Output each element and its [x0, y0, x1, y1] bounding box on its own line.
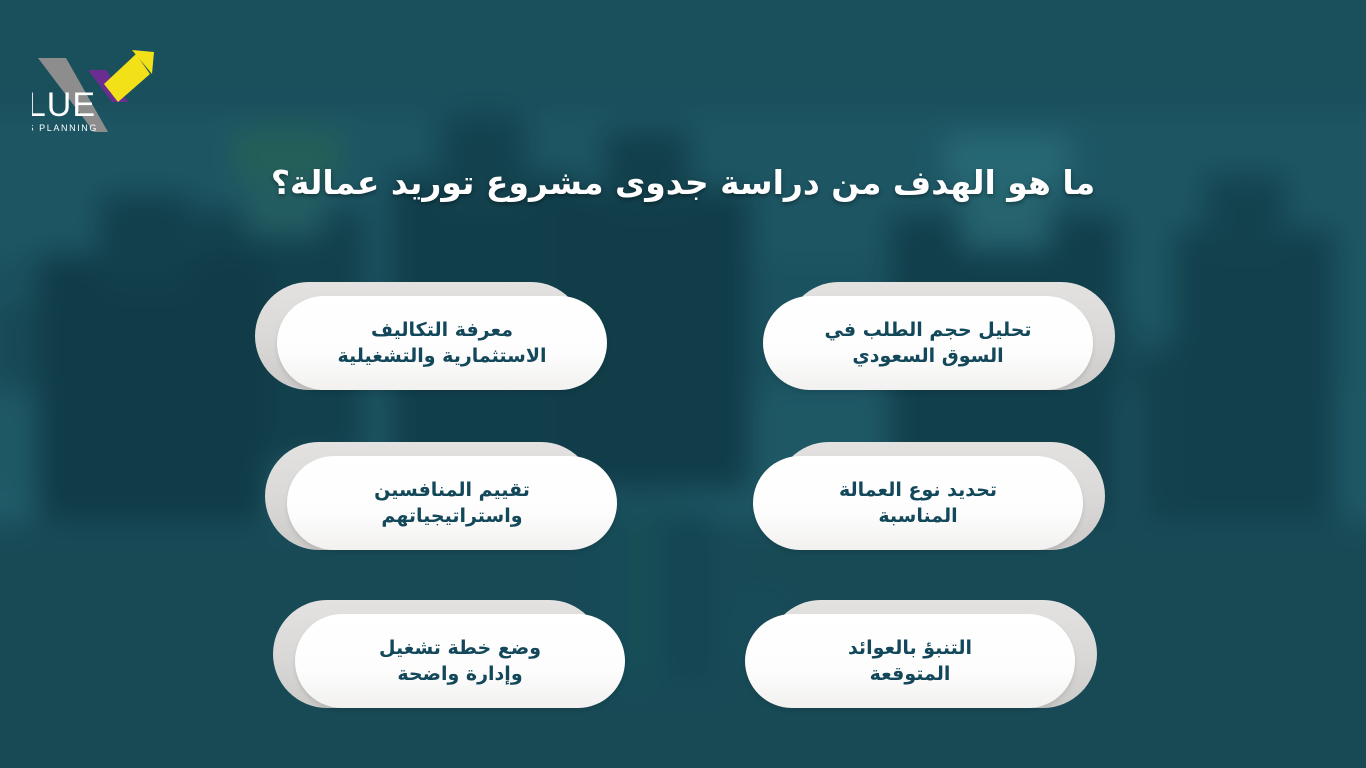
- card-label: وضع خطة تشغيلوإدارة واضحة: [357, 635, 563, 687]
- card-label: تحديد نوع العمالةالمناسبة: [817, 477, 1019, 529]
- card-label: معرفة التكاليفالاستثمارية والتشغيلية: [316, 317, 569, 369]
- card-pill[interactable]: معرفة التكاليفالاستثمارية والتشغيلية: [277, 296, 607, 390]
- card-demand-analysis[interactable]: تحليل حجم الطلب فيالسوق السعودي: [765, 282, 1115, 380]
- value-business-planning-logo: ALUE BUSINESS PLANNING: [32, 40, 182, 140]
- card-revenue-forecast[interactable]: التنبؤ بالعوائدالمتوقعة: [747, 600, 1097, 698]
- card-pill[interactable]: تحديد نوع العمالةالمناسبة: [753, 456, 1083, 550]
- card-pill[interactable]: وضع خطة تشغيلوإدارة واضحة: [295, 614, 625, 708]
- page-title: ما هو الهدف من دراسة جدوى مشروع توريد عم…: [0, 163, 1366, 202]
- svg-text:ALUE: ALUE: [32, 86, 96, 124]
- card-investment-costs[interactable]: معرفة التكاليفالاستثمارية والتشغيلية: [255, 282, 605, 380]
- card-pill[interactable]: تحليل حجم الطلب فيالسوق السعودي: [763, 296, 1093, 390]
- card-labor-type[interactable]: تحديد نوع العمالةالمناسبة: [755, 442, 1105, 540]
- card-operations-plan[interactable]: وضع خطة تشغيلوإدارة واضحة: [273, 600, 623, 698]
- infographic-slide: ALUE BUSINESS PLANNING ما هو الهدف من در…: [0, 0, 1366, 768]
- card-pill[interactable]: التنبؤ بالعوائدالمتوقعة: [745, 614, 1075, 708]
- card-label: التنبؤ بالعوائدالمتوقعة: [826, 635, 994, 687]
- svg-text:BUSINESS PLANNING: BUSINESS PLANNING: [32, 123, 98, 133]
- card-competitor-evaluation[interactable]: تقييم المنافسينواستراتيجياتهم: [265, 442, 615, 540]
- card-label: تحليل حجم الطلب فيالسوق السعودي: [802, 317, 1053, 369]
- card-pill[interactable]: تقييم المنافسينواستراتيجياتهم: [287, 456, 617, 550]
- card-label: تقييم المنافسينواستراتيجياتهم: [352, 477, 552, 529]
- objectives-card-grid: تحليل حجم الطلب فيالسوق السعودي معرفة ال…: [255, 282, 1115, 732]
